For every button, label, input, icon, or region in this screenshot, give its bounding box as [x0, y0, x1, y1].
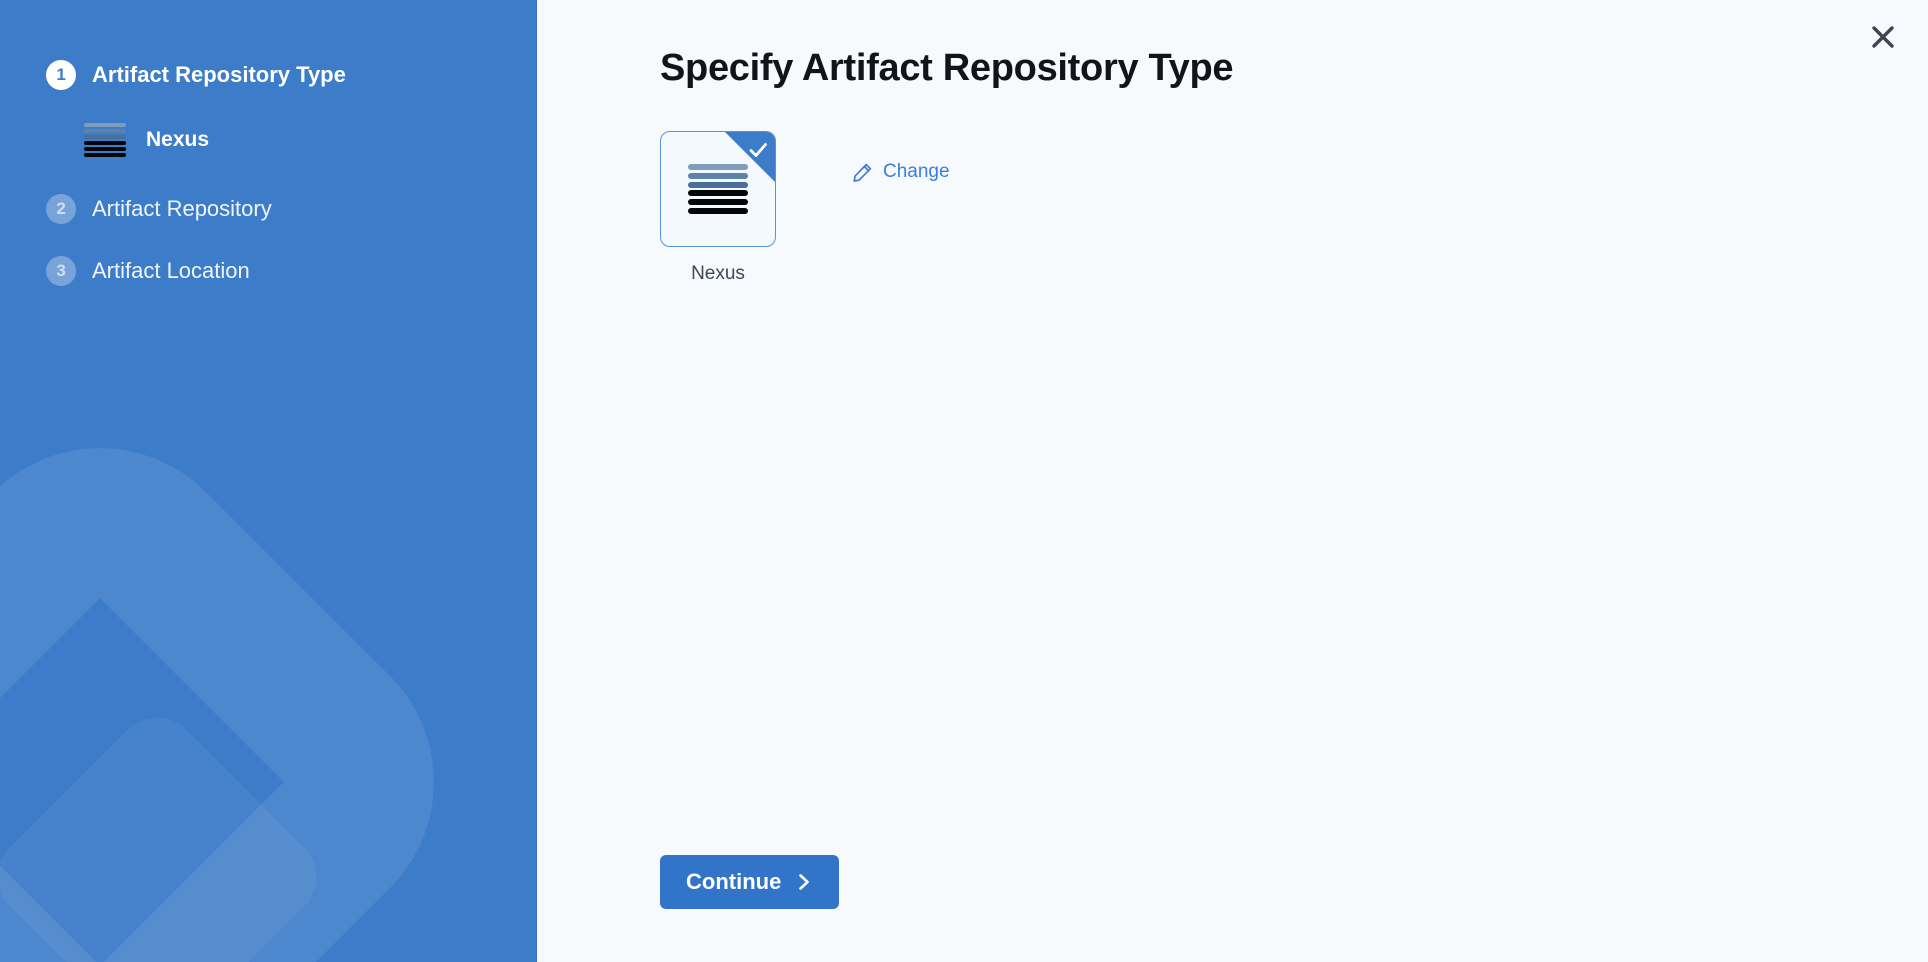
watermark-diamond-shape — [0, 700, 334, 962]
check-icon — [747, 139, 769, 161]
step-spacer — [0, 232, 536, 248]
continue-button[interactable]: Continue — [660, 855, 839, 909]
sidebar-step-artifact-repository[interactable]: 2 Artifact Repository — [0, 186, 536, 232]
change-link[interactable]: Change — [852, 161, 950, 183]
repository-type-selection: Nexus Change — [660, 131, 950, 285]
step-number-badge-2: 2 — [46, 194, 76, 224]
wizard-sidebar: 1 Artifact Repository Type Nexus 2 Artif… — [0, 0, 537, 962]
step-number-badge-3: 3 — [46, 256, 76, 286]
watermark-ring-shape — [0, 386, 496, 962]
step-label-1: Artifact Repository Type — [92, 62, 346, 88]
pencil-edit-icon — [852, 162, 883, 183]
sidebar-step-artifact-repository-type[interactable]: 1 Artifact Repository Type — [0, 52, 536, 98]
sidebar-sub-item-nexus[interactable]: Nexus — [0, 114, 536, 166]
continue-button-label: Continue — [686, 869, 781, 895]
step-label-2: Artifact Repository — [92, 196, 272, 222]
sidebar-sub-item-label: Nexus — [146, 128, 209, 152]
repository-type-option-nexus: Nexus — [660, 131, 776, 285]
chevron-right-icon — [795, 873, 813, 891]
main-content-panel: Specify Artifact Repository Type Nexus — [537, 0, 1928, 962]
sidebar-step-artifact-location[interactable]: 3 Artifact Location — [0, 248, 536, 294]
close-icon[interactable] — [1860, 14, 1906, 60]
page-title: Specify Artifact Repository Type — [660, 47, 1233, 90]
wizard-step-list: 1 Artifact Repository Type Nexus 2 Artif… — [0, 0, 536, 294]
change-link-label: Change — [883, 161, 950, 183]
nexus-option-card[interactable] — [660, 131, 776, 247]
decorative-watermark — [0, 502, 537, 962]
nexus-option-caption: Nexus — [660, 263, 776, 285]
step-number-badge-1: 1 — [46, 60, 76, 90]
step-label-3: Artifact Location — [92, 258, 250, 284]
nexus-logo-icon — [84, 123, 126, 157]
